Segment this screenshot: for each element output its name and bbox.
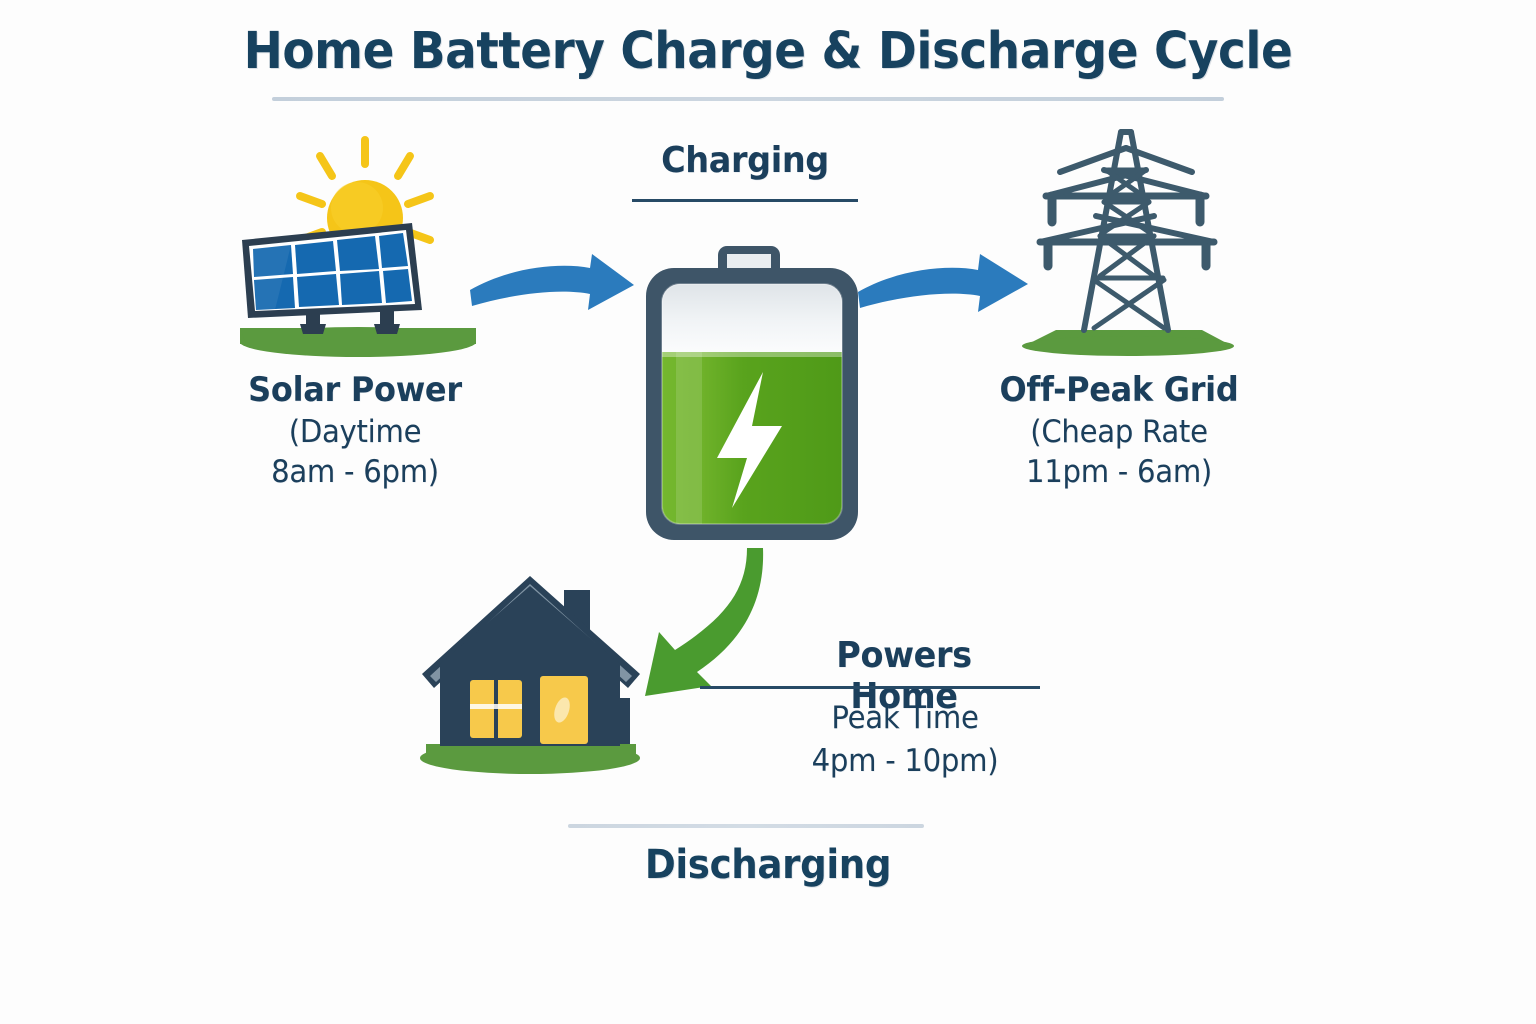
grid-heading: Off-Peak Grid (984, 372, 1255, 409)
infographic-canvas: Home Battery Charge & Discharge Cycle (0, 0, 1536, 1024)
solar-heading: Solar Power (223, 372, 486, 409)
peak-time-detail: Peak Time 4pm - 10pm) (760, 697, 1050, 783)
solar-power-label: Solar Power (Daytime 8am - 6pm) (215, 372, 495, 490)
grid-detail-2: 11pm - 6am) (984, 456, 1255, 489)
battery-empty-region (662, 284, 842, 352)
bottom-divider (568, 824, 924, 828)
charge-arrow-solar (462, 250, 646, 328)
window-icon (470, 680, 522, 738)
solar-detail-1: (Daytime (223, 416, 486, 449)
house-body (440, 664, 620, 746)
transmission-tower-icon (1018, 124, 1238, 356)
discharging-label: Discharging (54, 842, 1482, 888)
solar-detail-2: 8am - 6pm) (223, 456, 486, 489)
page-title: Home Battery Charge & Discharge Cycle (61, 22, 1474, 81)
door-icon (540, 676, 588, 744)
tower-lattice (1040, 132, 1214, 330)
arrow-shape (470, 254, 634, 310)
charging-text: Charging (640, 140, 850, 181)
charging-label: Charging (632, 140, 858, 181)
off-peak-grid-label: Off-Peak Grid (Cheap Rate 11pm - 6am) (975, 372, 1263, 490)
house-icon (412, 568, 662, 780)
grid-detail-1: (Cheap Rate (984, 416, 1255, 449)
title-divider (272, 97, 1224, 101)
battery-charging-icon (632, 240, 872, 552)
peak-detail-2: 4pm - 10pm) (769, 740, 1042, 783)
solar-panel-icon (230, 128, 490, 358)
peak-detail-1: Peak Time (769, 697, 1042, 740)
arrow-shape (858, 254, 1028, 312)
charging-underline (632, 199, 858, 202)
charge-arrow-grid (852, 250, 1040, 328)
powers-home-underline (700, 686, 1040, 689)
